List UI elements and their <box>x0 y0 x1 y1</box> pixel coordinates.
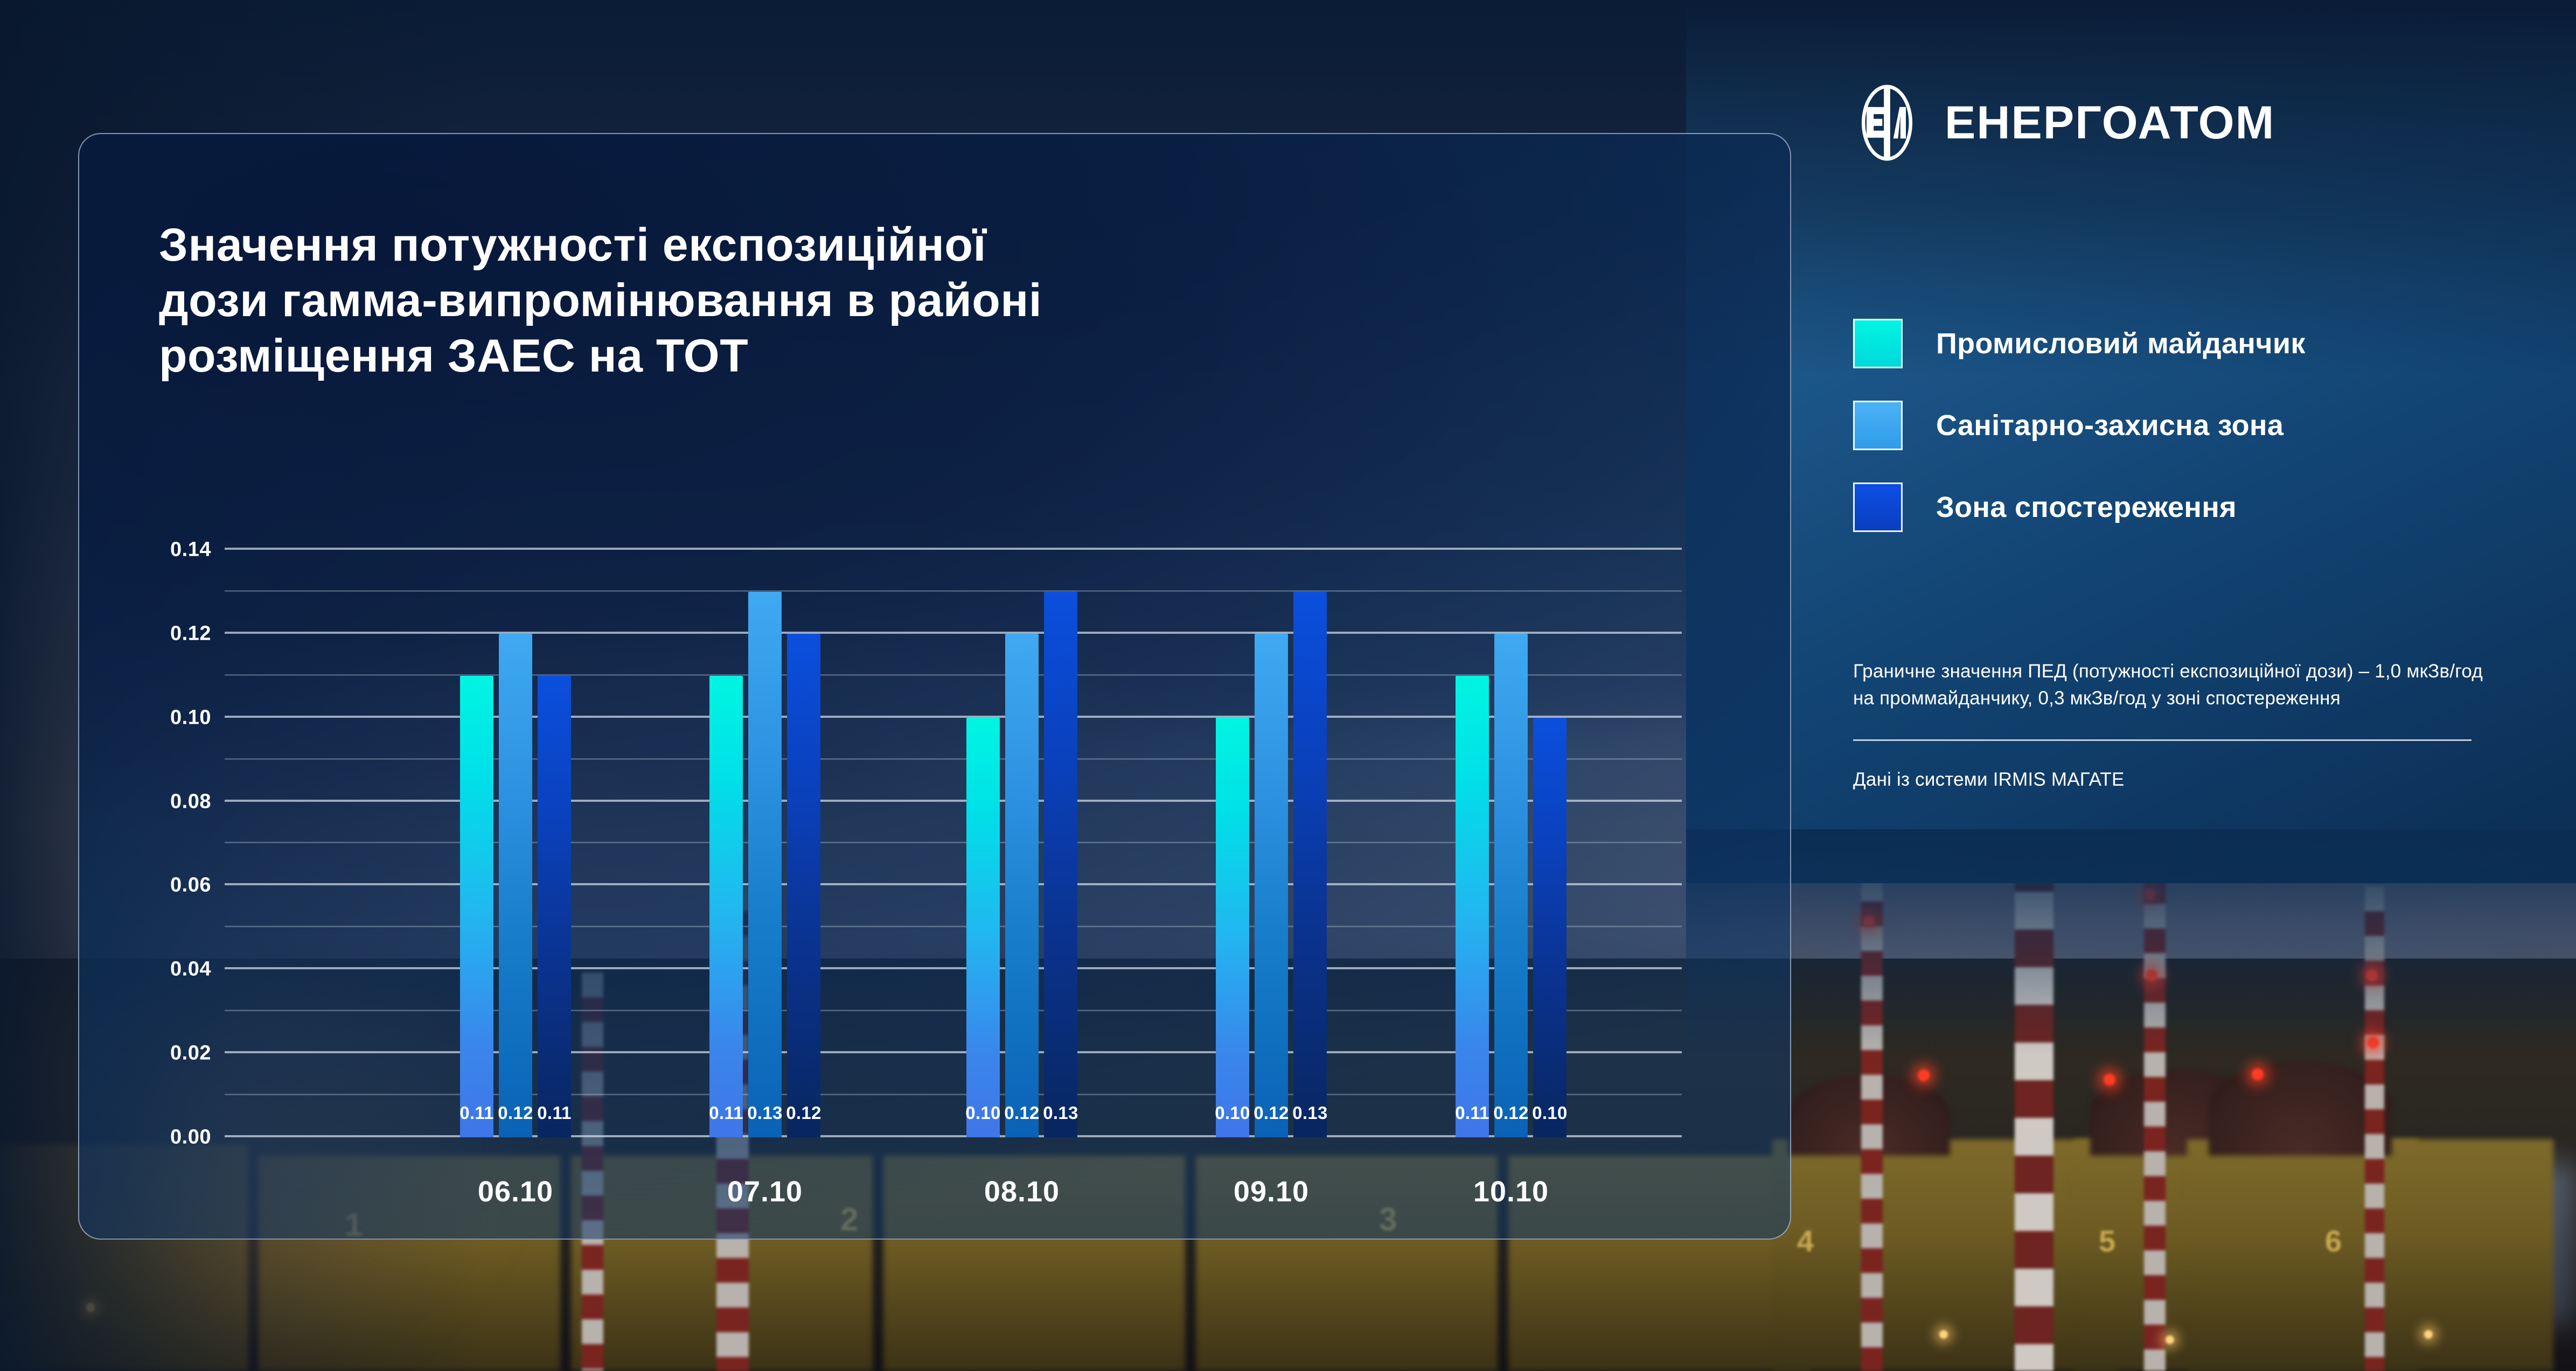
y-axis-tick-label: 0.00 <box>170 1126 211 1149</box>
legend-label: Промисловий майданчик <box>1936 327 2306 360</box>
divider <box>1853 739 2471 741</box>
bar-value-label: 0.13 <box>747 1103 782 1123</box>
bar-08-10-series-2[interactable]: 0.12 <box>1005 634 1039 1137</box>
bar-06-10-series-2[interactable]: 0.12 <box>499 634 532 1137</box>
bar-08-10-series-3[interactable]: 0.13 <box>1044 592 1077 1137</box>
brand-name: ЕНЕРГОАТОМ <box>1945 100 2275 146</box>
y-axis-tick-label: 0.12 <box>170 622 211 645</box>
legend-swatch-industrial-site <box>1853 319 1903 368</box>
gridline <box>225 590 1682 592</box>
warning-light <box>2252 1068 2264 1080</box>
dose-limit-note: Граничне значення ПЕД (потужності експоз… <box>1853 658 2489 711</box>
bar-value-label: 0.10 <box>1215 1103 1250 1123</box>
bar-value-label: 0.11 <box>537 1103 572 1123</box>
y-axis-tick-label: 0.04 <box>170 958 211 981</box>
x-axis-tick-label: 07.10 <box>727 1175 803 1208</box>
bar-value-label: 0.12 <box>786 1103 821 1123</box>
bar-10-10-series-3[interactable]: 0.10 <box>1533 718 1567 1137</box>
data-source-note: Дані із системи IRMIS МАГАТЕ <box>1853 769 2489 791</box>
gridline <box>225 632 1682 634</box>
x-axis-tick-label: 10.10 <box>1473 1175 1549 1208</box>
facility-light <box>2424 1330 2433 1339</box>
bar-07-10-series-1[interactable]: 0.11 <box>709 676 743 1137</box>
chart-card: Значення потужності експозиційної дози г… <box>78 133 1791 1240</box>
x-axis-tick-label: 06.10 <box>478 1175 553 1208</box>
legend-label: Санітарно-захисна зона <box>1936 409 2283 442</box>
gridline <box>225 548 1682 550</box>
bar-value-label: 0.10 <box>1532 1103 1567 1123</box>
bar-value-label: 0.12 <box>1004 1103 1039 1123</box>
bar-09-10-series-2[interactable]: 0.12 <box>1255 634 1288 1137</box>
bar-09-10-series-3[interactable]: 0.13 <box>1293 592 1327 1137</box>
bar-10-10-series-1[interactable]: 0.11 <box>1456 676 1489 1137</box>
bar-value-label: 0.12 <box>1493 1103 1528 1123</box>
chart-legend: Промисловий майданчик Санітарно-захисна … <box>1853 319 2306 564</box>
legend-swatch-sanitary-zone <box>1853 401 1903 450</box>
bar-07-10-series-2[interactable]: 0.13 <box>748 592 782 1137</box>
bar-07-10-series-3[interactable]: 0.12 <box>787 634 820 1137</box>
facility-light <box>1939 1330 1948 1339</box>
brand-gradient-fade <box>1686 829 2576 1055</box>
legend-item[interactable]: Зона спостереження <box>1853 482 2306 532</box>
x-axis-tick-label: 09.10 <box>1234 1175 1309 1208</box>
warning-light <box>1918 1069 1930 1081</box>
bar-value-label: 0.13 <box>1043 1103 1078 1123</box>
y-axis-tick-label: 0.08 <box>170 790 211 813</box>
unit-number: 6 <box>2325 1223 2342 1258</box>
facility-light <box>2166 1335 2174 1344</box>
bar-value-label: 0.12 <box>498 1103 533 1123</box>
bar-06-10-series-3[interactable]: 0.11 <box>538 676 571 1137</box>
y-axis-tick-label: 0.02 <box>170 1042 211 1065</box>
bar-10-10-series-2[interactable]: 0.12 <box>1494 634 1528 1137</box>
brand-logo: ЕНЕРГОАТОМ <box>1848 83 2275 162</box>
unit-number: 4 <box>1797 1223 1814 1258</box>
notes-block: Граничне значення ПЕД (потужності експоз… <box>1853 658 2489 791</box>
bar-06-10-series-1[interactable]: 0.11 <box>460 676 493 1137</box>
bar-chart-plot: 0.000.020.040.060.080.100.120.14 0.110.1… <box>225 529 1682 1137</box>
bar-value-label: 0.11 <box>1455 1103 1489 1123</box>
legend-swatch-observation-zone <box>1853 482 1903 532</box>
bar-value-label: 0.11 <box>709 1103 743 1123</box>
unit-number: 5 <box>2099 1223 2115 1258</box>
legend-item[interactable]: Промисловий майданчик <box>1853 319 2306 368</box>
bar-value-label: 0.13 <box>1292 1103 1327 1123</box>
y-axis-tick-label: 0.14 <box>170 538 211 561</box>
bar-value-label: 0.10 <box>965 1103 1000 1123</box>
legend-item[interactable]: Санітарно-захисна зона <box>1853 401 2306 450</box>
bar-value-label: 0.11 <box>459 1103 494 1123</box>
warning-light <box>2104 1074 2115 1086</box>
y-axis-tick-label: 0.10 <box>170 706 211 729</box>
reactor-dome <box>2209 1061 2392 1156</box>
energoatom-mark-icon <box>1848 83 1926 162</box>
bar-value-label: 0.12 <box>1254 1103 1289 1123</box>
bar-08-10-series-1[interactable]: 0.10 <box>966 718 1000 1137</box>
y-axis-tick-label: 0.06 <box>170 874 211 897</box>
legend-label: Зона спостереження <box>1936 491 2237 524</box>
bar-09-10-series-1[interactable]: 0.10 <box>1216 718 1249 1137</box>
page-title: Значення потужності експозиційної дози г… <box>159 218 1452 384</box>
x-axis-tick-label: 08.10 <box>984 1175 1060 1208</box>
